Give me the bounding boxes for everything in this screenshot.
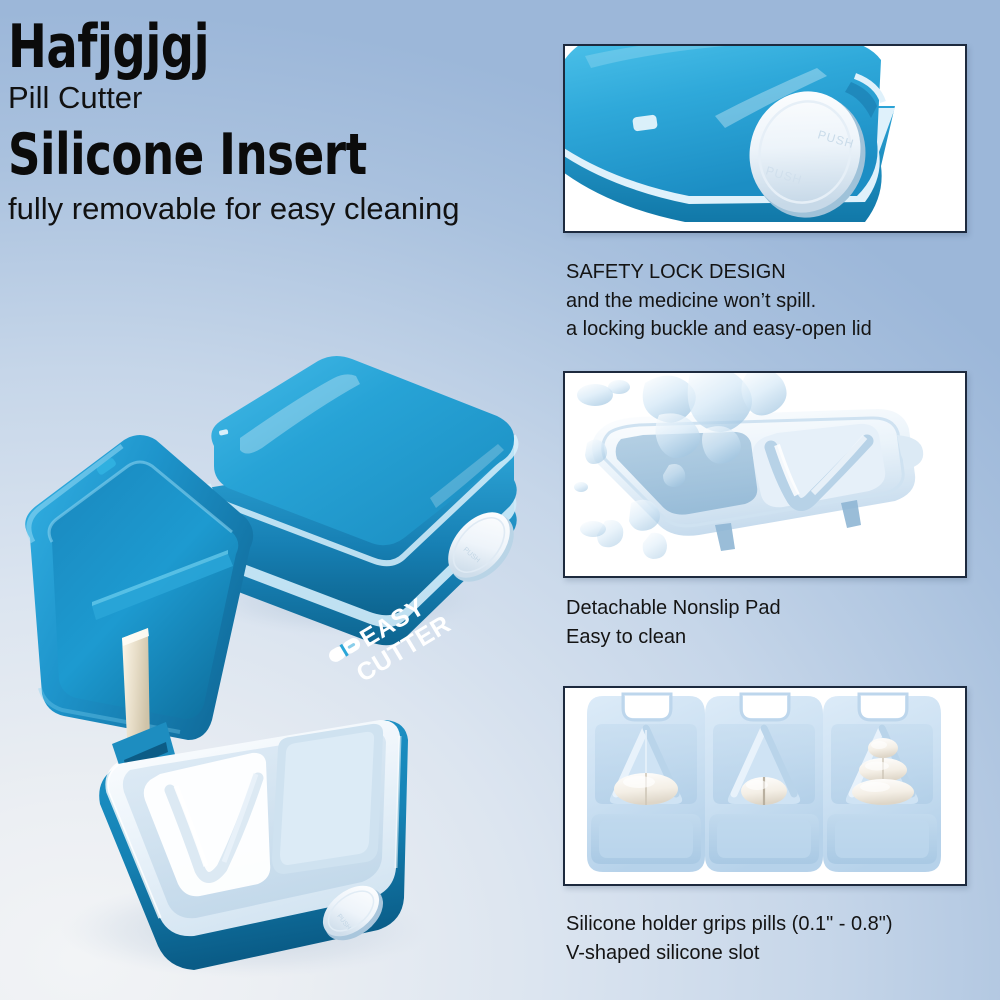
pill-grip-caption: Silicone holder grips pills (0.1" - 0.8"… — [566, 910, 996, 967]
tagline: fully removable for easy cleaning — [8, 188, 553, 230]
pill — [859, 758, 907, 782]
product-type: Pill Cutter — [8, 76, 553, 120]
brand-name: Hafjgjgj — [8, 16, 477, 78]
detachable-pad-caption: Detachable Nonslip Pad Easy to clean — [566, 594, 986, 651]
product-infographic: Hafjgjgj Pill Cutter Silicone Insert ful… — [0, 0, 1000, 1000]
storage-compartment — [272, 724, 383, 874]
closed-pill-cutter: EASY CUTTER PUSH — [207, 356, 526, 696]
safety-lock-photo: PUSH PUSH — [563, 44, 967, 233]
list-item — [587, 694, 705, 872]
pill — [741, 777, 787, 805]
pill — [852, 779, 914, 805]
detachable-pad-photo — [563, 371, 967, 578]
main-product-photo: EASY CUTTER PUSH — [0, 270, 560, 1000]
pill — [614, 773, 678, 805]
safety-lock-caption: SAFETY LOCK DESIGN and the medicine won’… — [566, 258, 986, 344]
pill-grip-photo — [563, 686, 967, 886]
feature-headline: Silicone Insert — [8, 124, 488, 186]
pill — [868, 738, 898, 758]
list-item — [823, 694, 941, 872]
headline-block: Hafjgjgj Pill Cutter Silicone Insert ful… — [8, 16, 553, 230]
list-item — [705, 694, 823, 872]
